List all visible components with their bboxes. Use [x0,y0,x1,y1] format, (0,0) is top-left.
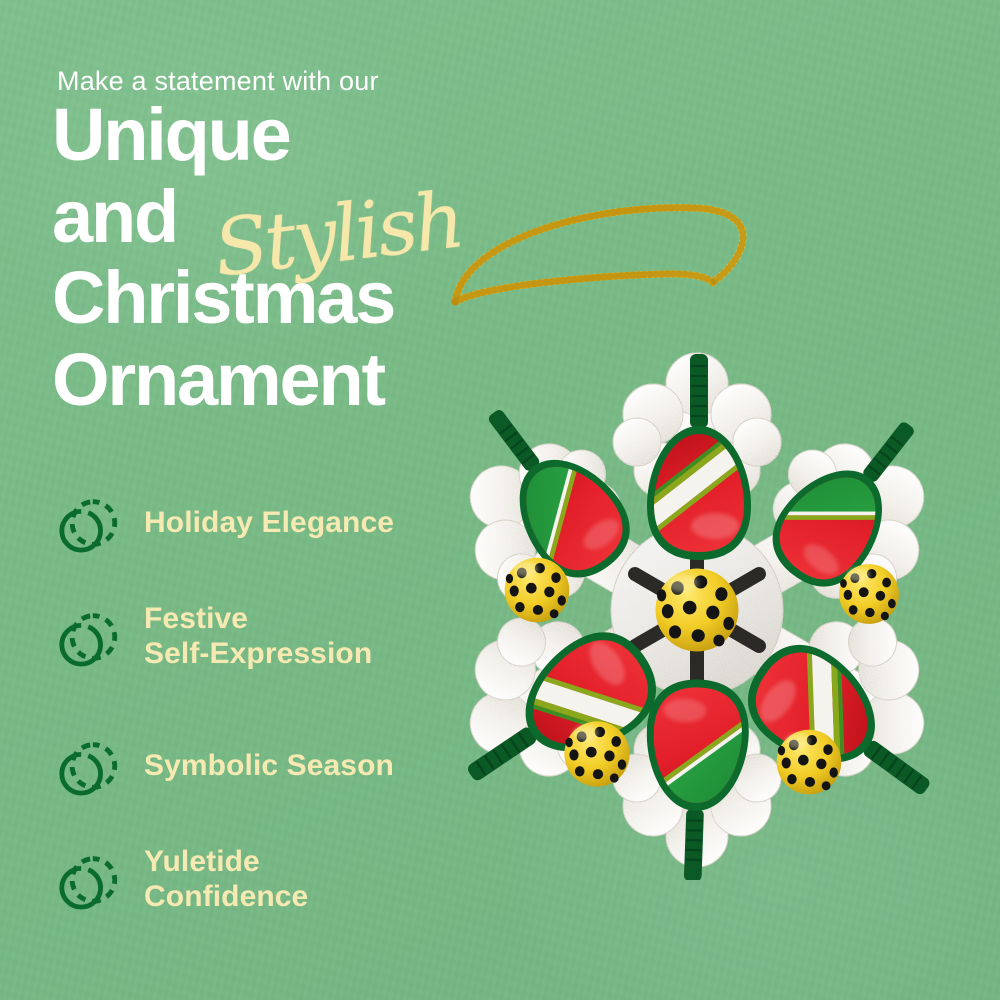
wiffle-ball-center [656,569,739,652]
gold-beaded-cord [455,208,743,302]
list-item: YuletideConfidence [56,845,308,915]
list-item-label: Symbolic Season [144,749,394,784]
wiffle-ball-left [505,558,570,623]
ornament-illustration [395,190,1000,880]
interlocking-rings-icon [56,492,118,554]
list-item-label: YuletideConfidence [144,845,308,915]
product-image-ornament [395,190,1000,880]
list-item: Symbolic Season [56,735,394,797]
list-item: FestiveSelf-Expression [56,602,372,672]
headline-line-1: Unique [52,99,522,172]
interlocking-rings-icon [56,735,118,797]
wiffle-ball-lower-left [564,721,629,786]
interlocking-rings-icon [56,606,118,668]
promo-canvas: Make a statement with our Unique and Chr… [0,0,1000,1000]
list-item-label: FestiveSelf-Expression [144,602,372,672]
wiffle-ball-lower-right [777,730,842,795]
list-item: Holiday Elegance [56,492,394,554]
list-item-label: Holiday Elegance [144,506,394,541]
wiffle-ball-right [839,564,899,624]
interlocking-rings-icon [56,849,118,911]
